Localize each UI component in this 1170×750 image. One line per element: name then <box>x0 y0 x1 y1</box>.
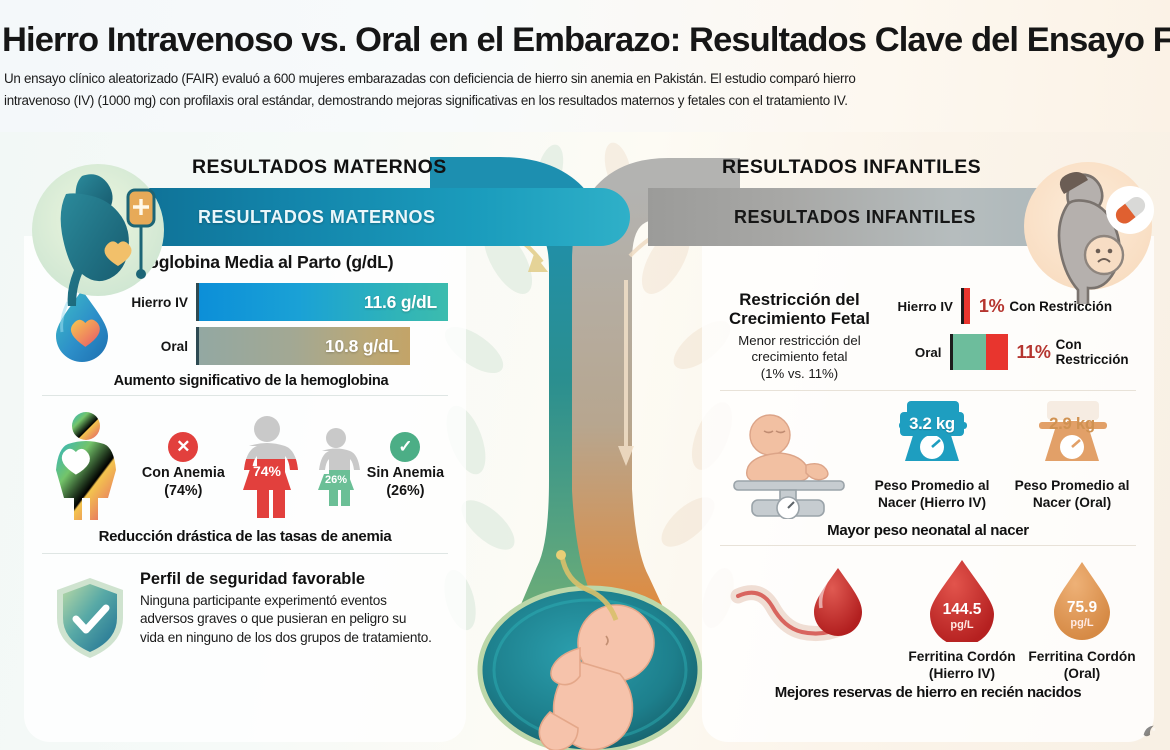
ferritin-label-iv-line-2: (Hierro IV) <box>902 666 1022 682</box>
ferritin-label-oral-line-1: Ferritina Cordón <box>1022 649 1142 665</box>
infant-banner-label: RESULTADOS INFANTILES <box>734 207 976 228</box>
fgr-sub-line-2: crecimiento fetal <box>716 349 883 366</box>
page-subtitle: Un ensayo clínico aleatorizado (FAIR) ev… <box>4 68 1166 111</box>
ferritin-drop-oral: 75.9 pg/L <box>1040 556 1124 642</box>
fgr-value-oral: 11% <box>1017 342 1051 363</box>
maternal-section-title: RESULTADOS MATERNOS <box>192 156 447 179</box>
hemoglobin-value-oral: 10.8 g/dL <box>325 336 399 357</box>
ferritin-label-iv-line-1: Ferritina Cordón <box>902 649 1022 665</box>
check-icon: ✓ <box>390 432 420 462</box>
anemia-with-line2: (74%) <box>142 483 225 500</box>
safety-block: Perfil de seguridad favorable Ninguna pa… <box>24 554 466 670</box>
fgr-title: Restricción del Crecimiento Fetal <box>716 290 883 329</box>
fgr-row-oral: Oral 11% Con Restricción <box>889 334 1140 370</box>
fgr-value-iv: 1% <box>979 296 1004 317</box>
ferritin-unit-oral: pg/L <box>1070 617 1093 629</box>
fgr-label-iv: Hierro IV <box>889 299 961 314</box>
fgr-sub-line-1: Menor restricción del <box>716 333 883 350</box>
weight-value-oral: 2.9 kg <box>1040 412 1104 436</box>
ferritin-value-iv: 144.5 <box>943 601 982 618</box>
anemia-with-line1: Con Anemia <box>142 465 225 482</box>
watermark-logo <box>1140 722 1162 744</box>
ferritin-label-iv: Ferritina Cordón (Hierro IV) <box>902 649 1022 682</box>
page-title: Hierro Intravenoso vs. Oral en el Embara… <box>2 22 1166 59</box>
hemoglobin-bar-iv: 11.6 g/dL <box>196 283 448 321</box>
maternal-banner: RESULTADOS MATERNOS <box>110 188 630 246</box>
safety-body-line-1: Ninguna participante experimentó eventos <box>140 592 444 610</box>
anemia-without-line2: (26%) <box>367 483 444 500</box>
safety-title: Perfil de seguridad favorable <box>140 570 444 589</box>
subtitle-line-2: intravenoso (IV) (1000 mg) con profilaxi… <box>4 90 1166 112</box>
anemia-with-label: ✕ Con Anemia (74%) <box>142 432 225 499</box>
infant-panel: Restricción del Crecimiento Fetal Menor … <box>702 236 1154 742</box>
weight-label-oral: Peso Promedio al Nacer (Oral) <box>1002 478 1142 511</box>
ferritin-item-oral: 75.9 pg/L Ferritina Cordón (Oral) <box>1022 556 1142 682</box>
shield-check-icon <box>51 574 129 662</box>
hemoglobin-value-iv: 11.6 g/dL <box>364 292 437 313</box>
hemoglobin-label-oral: Oral <box>130 339 196 354</box>
anemia-without-label: ✓ Sin Anemia (26%) <box>367 432 444 499</box>
ferritin-value-oral: 75.9 <box>1067 599 1098 616</box>
header: Hierro Intravenoso vs. Oral en el Embara… <box>0 0 1170 132</box>
anemia-without-line1: Sin Anemia <box>367 465 444 482</box>
infographic-canvas: Hierro Intravenoso vs. Oral en el Embara… <box>0 0 1170 750</box>
umbilical-cord-blood-drop-icon <box>720 562 896 658</box>
fgr-title-line-1: Restricción del <box>716 290 883 309</box>
fgr-bars-oral <box>950 334 1008 370</box>
fgr-title-line-2: Crecimiento Fetal <box>716 309 883 328</box>
maternal-banner-label: RESULTADOS MATERNOS <box>198 207 436 228</box>
fgr-label-oral: Oral <box>889 345 950 360</box>
ferritin-caption: Mejores reservas de hierro en recién nac… <box>714 684 1142 701</box>
anemia-figure-26: 26% <box>309 426 363 506</box>
hemoglobin-row-iv: Hierro IV 11.6 g/dL <box>130 283 452 321</box>
weight-label-oral-line-1: Peso Promedio al <box>1002 478 1142 494</box>
fgr-subtitle: Menor restricción del crecimiento fetal … <box>716 333 883 383</box>
ferritin-unit-iv: pg/L <box>950 619 973 631</box>
anemia-caption: Reducción drástica de las tasas de anemi… <box>38 528 452 545</box>
ferritin-item-iv: 144.5 pg/L Ferritina Cordón (Hierro IV) <box>902 556 1022 682</box>
weight-label-iv-line-1: Peso Promedio al <box>862 478 1002 494</box>
pregnant-woman-pill-icon <box>1016 152 1168 304</box>
hemoglobin-row-oral: Oral 10.8 g/dL <box>130 327 452 365</box>
weight-label-iv: Peso Promedio al Nacer (Hierro IV) <box>862 478 1002 511</box>
safety-body-line-2: adversos graves o que pusieran en peligr… <box>140 610 444 628</box>
weight-label-oral-line-2: Nacer (Oral) <box>1002 495 1142 511</box>
weight-caption: Mayor peso neonatal al nacer <box>714 522 1142 539</box>
ferritin-block: 144.5 pg/L Ferritina Cordón (Hierro IV) <box>702 546 1154 707</box>
subtitle-line-1: Un ensayo clínico aleatorizado (FAIR) ev… <box>4 68 1166 90</box>
woman-heart-gradient-icon <box>48 410 124 522</box>
hemoglobin-bar-oral: 10.8 g/dL <box>196 327 410 365</box>
x-icon: ✕ <box>168 432 198 462</box>
weight-item-iv: 3.2 kg Peso Promedio al Nacer (Hierro IV… <box>862 401 1002 511</box>
anemia-big-pct: 74% <box>253 463 282 479</box>
safety-body-line-3: vida en ninguno de los dos grupos de tra… <box>140 629 444 647</box>
ferritin-label-oral: Ferritina Cordón (Oral) <box>1022 649 1142 682</box>
pregnant-woman-iv-icon <box>18 150 178 310</box>
hemoglobin-caption: Aumento significativo de la hemoglobina <box>50 373 452 389</box>
fgr-sub-line-3: (1% vs. 11%) <box>716 366 883 383</box>
ferritin-label-oral-line-2: (Oral) <box>1022 666 1142 682</box>
infant-section-title: RESULTADOS INFANTILES <box>722 156 981 179</box>
anemia-block: ✕ Con Anemia (74%) 74% <box>24 396 466 553</box>
baby-on-scale-icon <box>722 407 854 519</box>
safety-body: Ninguna participante experimentó eventos… <box>140 592 444 647</box>
maternal-panel: Hemoglobina Media al Parto (g/dL) <box>24 236 466 742</box>
ferritin-drop-iv: 144.5 pg/L <box>916 556 1008 642</box>
weight-value-iv: 3.2 kg <box>900 412 964 436</box>
fgr-bars-iv <box>961 288 970 324</box>
weight-item-oral: 2.9 kg Peso Promedio al Nacer (Oral) <box>1002 401 1142 511</box>
anemia-small-pct: 26% <box>325 474 347 486</box>
anemia-figure-74: 74% <box>229 414 305 518</box>
birth-weight-block: 3.2 kg Peso Promedio al Nacer (Hierro IV… <box>702 391 1154 545</box>
fgr-text-oral: Con Restricción <box>1056 337 1140 367</box>
weight-label-iv-line-2: Nacer (Hierro IV) <box>862 495 1002 511</box>
